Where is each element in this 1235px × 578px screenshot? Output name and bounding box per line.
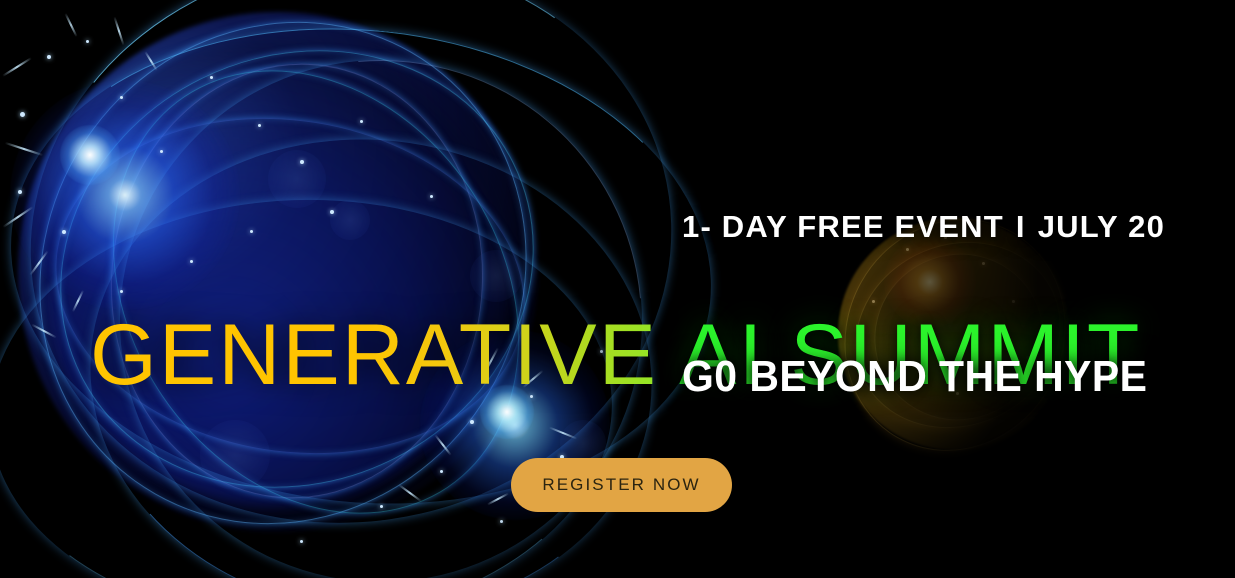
eyebrow-separator: I [1004,209,1038,245]
banner-content: 1- DAY FREE EVENTIJULY 20 GENERATIVE AI … [0,0,1235,578]
tagline: G0 BEYOND THE HYPE [682,352,1147,402]
event-banner: 1- DAY FREE EVENTIJULY 20 GENERATIVE AI … [0,0,1235,578]
event-date-label: JULY 20 [1038,209,1165,244]
event-duration-label: 1- DAY FREE EVENT [682,209,1004,244]
register-now-button[interactable]: REGISTER NOW [511,458,732,512]
title-word-generative: GENERATIVE [90,307,658,403]
event-eyebrow: 1- DAY FREE EVENTIJULY 20 [682,209,1165,245]
